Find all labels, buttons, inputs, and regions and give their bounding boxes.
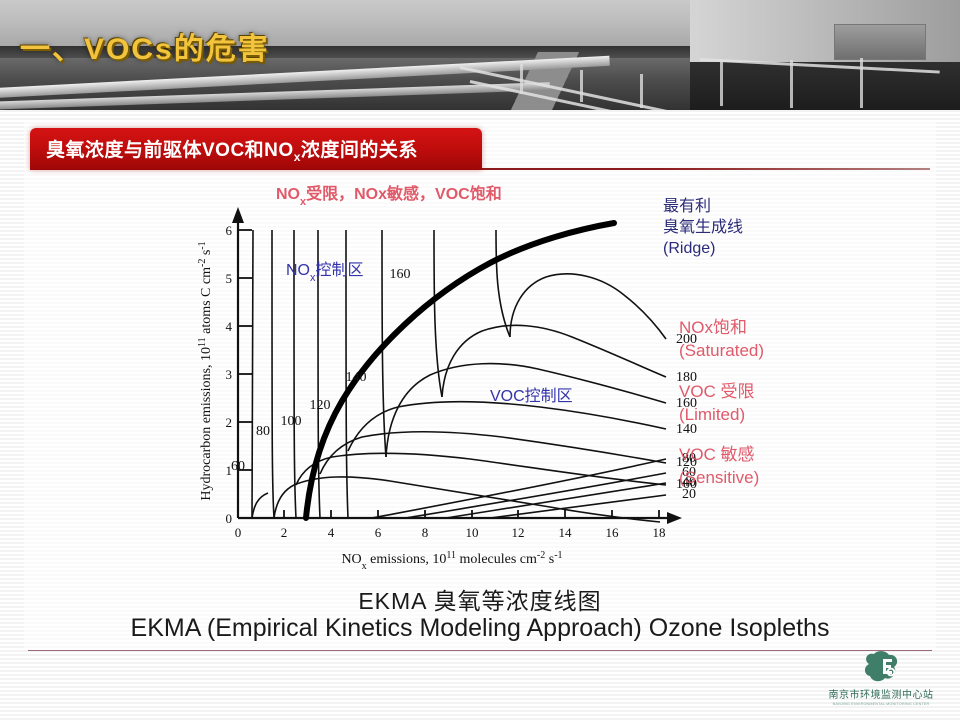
nox-saturated-l2: (Saturated) (679, 339, 764, 362)
y-axis-title: Hydrocarbon emissions, 1011 atoms C cm-2… (197, 241, 215, 500)
isopleth-40-ray (446, 483, 666, 518)
svg-text:14: 14 (559, 525, 573, 540)
svg-text:0: 0 (226, 511, 233, 526)
caption-divider (28, 650, 932, 651)
ridge-line-label-l3: (Ridge) (663, 238, 743, 259)
svg-text:3: 3 (226, 367, 233, 382)
voc-limited-l1: VOC 受限 (679, 380, 755, 403)
photo-rail-post-6 (860, 58, 863, 108)
nox-control-zone-label: NOx控制区 (286, 261, 364, 284)
y-tick-labels: 0 1 2 3 4 5 6 (226, 223, 233, 526)
isopleth-60-left (252, 230, 253, 518)
isopleth-160-curve (386, 364, 666, 457)
ridge-line-label-l2: 臭氧生成线 (663, 217, 743, 238)
voc-limited-label: VOC 受限 (Limited) (679, 380, 755, 426)
label-60-left: 60 (231, 459, 245, 474)
isopleth-200-left (496, 230, 510, 337)
voc-limited-l2: (Limited) (679, 403, 755, 426)
isopleth-100-curve (296, 453, 666, 485)
photo-rail-post-2 (580, 70, 583, 102)
isopleth-60-curve (252, 493, 268, 518)
svg-text:10: 10 (466, 525, 479, 540)
isopleth-140-curve (348, 402, 666, 451)
ridge-line-label-l1: 最有利 (663, 196, 743, 217)
svg-text:16: 16 (606, 525, 620, 540)
svg-text:0: 0 (235, 525, 242, 540)
label-160-left: 160 (390, 267, 411, 282)
caption-chinese: EKMA 臭氧等浓度线图 (0, 582, 960, 616)
label-20-right: 20 (682, 487, 696, 502)
x-tick-labels: 0 2 4 6 8 10 12 14 16 18 (235, 525, 666, 540)
svg-text:2: 2 (281, 525, 288, 540)
ridge-line-label: 最有利 臭氧生成线 (Ridge) (663, 196, 743, 259)
label-100-left: 100 (281, 414, 302, 429)
voc-sensitive-l2: (Sensitive) (679, 466, 759, 489)
chart-title: NOx受限，NOx敏感，VOC饱和 (276, 185, 502, 208)
banner-text-subscript: x (294, 149, 301, 163)
isopleth-180-curve (442, 325, 666, 397)
nox-saturated-label: NOx饱和 (Saturated) (679, 316, 764, 362)
svg-text:5: 5 (226, 271, 233, 286)
photo-rail-post-3 (640, 74, 643, 108)
photo-rail-post-5 (790, 60, 793, 108)
svg-text:4: 4 (328, 525, 335, 540)
isopleth-200-curve (510, 274, 666, 339)
svg-text:8: 8 (422, 525, 429, 540)
isopleth-80-left (272, 230, 274, 518)
photo-rail-post-1 (520, 64, 523, 94)
label-140-left: 140 (346, 370, 367, 385)
photo-machinery (834, 24, 926, 60)
organization-name-en: NANJING ENVIRONMENTAL MONITORING CENTER (821, 701, 941, 706)
svg-text:18: 18 (653, 525, 666, 540)
svg-text:4: 4 (226, 319, 233, 334)
voc-control-zone-label: VOC控制区 (490, 387, 573, 405)
x-axis-title: NOx emissions, 1011 molecules cm-2 s-1 (341, 550, 562, 571)
label-120-left: 120 (310, 398, 331, 413)
photo-rail-post-4 (720, 60, 723, 106)
svg-text:2: 2 (226, 415, 233, 430)
organization-logo: 南京市环境监测中心站 NANJING ENVIRONMENTAL MONITOR… (816, 650, 946, 712)
leaf-E-mark-icon (861, 650, 901, 684)
svg-text:6: 6 (375, 525, 382, 540)
caption-english: EKMA (Empirical Kinetics Modeling Approa… (0, 614, 960, 643)
page-title: 一、VOCs的危害 (20, 24, 270, 68)
section-banner-text: 臭氧浓度与前驱体VOC和NOx浓度间的关系 (30, 135, 418, 164)
chart-axes (232, 207, 682, 524)
label-80-left: 80 (256, 424, 270, 439)
svg-text:6: 6 (226, 223, 233, 238)
nox-saturated-l1: NOx饱和 (679, 316, 764, 339)
banner-text-part1: 臭氧浓度与前驱体VOC和NO (46, 140, 294, 161)
svg-text:12: 12 (512, 525, 525, 540)
organization-name-cn: 南京市环境监测中心站 (816, 686, 946, 701)
isopleth-80-ray (372, 459, 666, 518)
voc-sensitive-l1: VOC 敏感 (679, 443, 759, 466)
banner-text-part2: 浓度间的关系 (301, 140, 418, 161)
section-banner: 臭氧浓度与前驱体VOC和NOx浓度间的关系 (30, 128, 482, 170)
voc-sensitive-label: VOC 敏感 (Sensitive) (679, 443, 759, 489)
